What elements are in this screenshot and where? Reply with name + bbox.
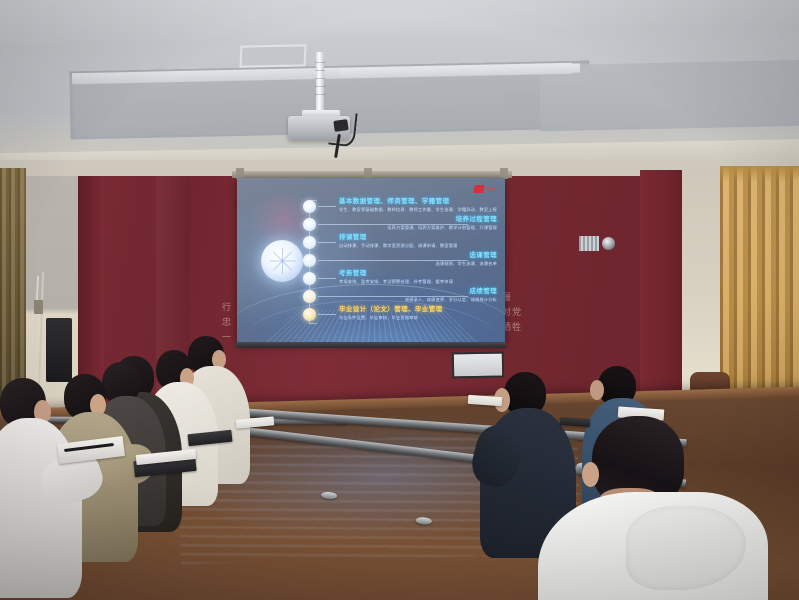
slide-row-node-icon (303, 218, 316, 231)
slide-row-subtext: 选课规则、学生选课、选课名单 (436, 260, 497, 267)
ceiling-slab (0, 0, 799, 44)
projection-screen-roller (232, 171, 512, 178)
slide-row-leader-line (318, 206, 336, 207)
slide-row-heading: 选课管理 (436, 251, 497, 260)
slide-row-text: 培养过程管理培养方案管理、培养方案维护、教学计划管理、开课管理 (387, 215, 497, 231)
slide-row-node-icon (303, 200, 316, 213)
attendee-front-left (0, 378, 104, 588)
slide-row-text: 考务管理考场安排、监考安排、考试预警处理、补考管理、缓考申请 (339, 269, 453, 285)
slide-row-text: 基本数据管理、师资管理、学籍管理学生、教室等基础数据、教师信息、教师工作量、学生… (339, 197, 497, 213)
slide-row-heading: 排课管理 (339, 233, 457, 242)
slide-row-heading: 毕业设计（论文）管理、毕业管理 (339, 305, 443, 314)
slide-row-text: 成绩管理成绩录入、成绩变更、学分认定、成绩统计分析 (405, 287, 497, 303)
projector-pole-mount (316, 52, 324, 114)
ear (582, 462, 599, 487)
slide-row-heading: 成绩管理 (405, 287, 497, 296)
slide-row-heading: 培养过程管理 (387, 215, 497, 224)
wall-cable-box (34, 300, 43, 314)
slide-row-node-icon (303, 236, 316, 249)
slide-row-node-icon (303, 290, 316, 303)
slide-row-subtext: 自动排课、手动排课、教学室资源分配、调课申请、教室管理 (339, 242, 457, 249)
slide-row: 毕业设计（论文）管理、毕业管理毕业条件设置、毕业审核、毕业资格审核 (309, 306, 499, 328)
slide-row-text: 毕业设计（论文）管理、毕业管理毕业条件设置、毕业审核、毕业资格审核 (339, 305, 443, 321)
slide-row-heading: 考务管理 (339, 269, 453, 278)
slide-row-subtext: 成绩录入、成绩变更、学分认定、成绩统计分析 (405, 296, 497, 303)
projector-vent (579, 236, 599, 251)
slide-row-heading: 基本数据管理、师资管理、学籍管理 (339, 197, 497, 206)
face (590, 380, 604, 400)
projection-screen: 教务 基本数据管理、师资管理、学籍管理学生、教室等基础数据、教师信息、教师工作量… (237, 178, 505, 344)
projection-screen-weight-bar (236, 342, 506, 348)
slide-row-node-icon (303, 272, 316, 285)
attendee-foreground-right (556, 416, 796, 600)
slide-row-node-icon (303, 254, 316, 267)
conference-room-photo: 行忠一 程，履密，对党人民牺牲 教务 基本 (0, 0, 799, 600)
wall-speaker (46, 318, 72, 382)
slide-rows: 基本数据管理、师资管理、学籍管理学生、教室等基础数据、教师信息、教师工作量、学生… (237, 178, 505, 344)
slide-row-subtext: 毕业条件设置、毕业审核、毕业资格审核 (339, 314, 443, 321)
slide-row-leader-line (318, 242, 336, 243)
slide-row-text: 排课管理自动排课、手动排课、教学室资源分配、调课申请、教室管理 (339, 233, 457, 249)
slide-row-subtext: 培养方案管理、培养方案维护、教学计划管理、开课管理 (387, 224, 497, 231)
slide-row-leader-line (318, 278, 336, 279)
ceiling-vent (239, 44, 306, 67)
slide-row-text: 选课管理选课规则、学生选课、选课名单 (436, 251, 497, 267)
projector-lens-icon (602, 237, 615, 250)
slide-row-leader-line (318, 314, 336, 315)
slide-row-subtext: 学生、教室等基础数据、教师信息、教师工作量、学生选课、学籍异动、教室上报 (339, 206, 497, 213)
slide-row-node-icon (303, 308, 316, 321)
slide-row-subtext: 考场安排、监考安排、考试预警处理、补考管理、缓考申请 (339, 278, 453, 285)
